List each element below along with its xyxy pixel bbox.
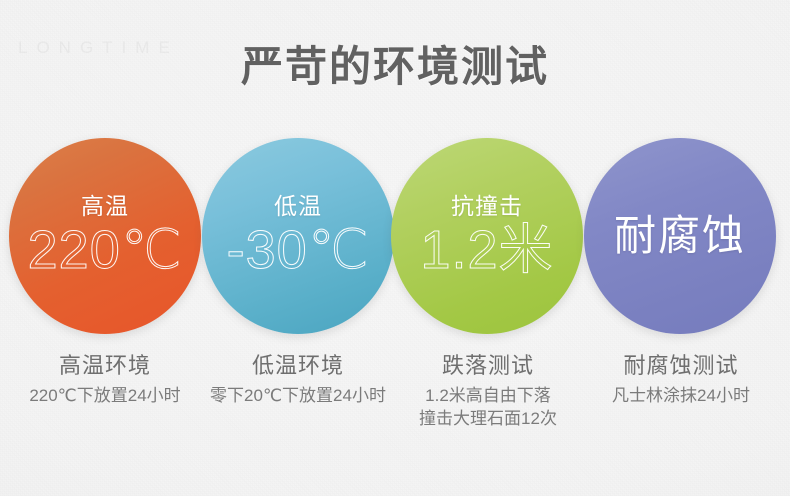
caption-corrosion-resistance: 耐腐蚀测试 凡士林涂抹24小时 [576,352,786,407]
circle-label: 低温 [274,193,322,219]
circle-label: 高温 [81,193,129,219]
test-circle-high-temperature: 高温 220℃ [9,138,201,334]
caption-title: 高温环境 [0,352,210,380]
circle-value: -30℃ [227,221,370,279]
test-circle-impact-resistance: 抗撞击 1.2米 [391,138,583,334]
caption-line-1: 220℃下放置24小时 [29,386,180,405]
caption-line-1: 凡士林涂抹24小时 [612,386,750,405]
caption-subtext: 220℃下放置24小时 [0,384,210,407]
caption-high-temperature: 高温环境 220℃下放置24小时 [0,352,210,407]
caption-title: 耐腐蚀测试 [576,352,786,380]
circle-value: 220℃ [28,221,183,279]
test-circles-row: 高温 220℃ 低温 -30℃ 抗撞击 1.2米 耐腐蚀 [0,138,790,338]
test-circle-low-temperature: 低温 -30℃ [202,138,394,334]
caption-subtext: 零下20℃下放置24小时 [193,384,403,407]
caption-impact-resistance: 跌落测试 1.2米高自由下落 撞击大理石面12次 [383,352,593,430]
caption-subtext: 凡士林涂抹24小时 [576,384,786,407]
test-circle-corrosion-resistance: 耐腐蚀 [584,138,776,334]
circle-label: 抗撞击 [451,193,523,219]
promo-banner: LONGTIME 严苛的环境测试 高温 220℃ 低温 -30℃ 抗撞击 1.2… [0,0,790,496]
circle-value: 1.2米 [420,221,553,279]
caption-line-2: 撞击大理石面12次 [383,407,593,430]
caption-title: 跌落测试 [383,352,593,380]
page-title: 严苛的环境测试 [0,42,790,92]
caption-subtext: 1.2米高自由下落 撞击大理石面12次 [383,384,593,430]
caption-low-temperature: 低温环境 零下20℃下放置24小时 [193,352,403,407]
caption-line-1: 零下20℃下放置24小时 [210,386,386,405]
caption-title: 低温环境 [193,352,403,380]
caption-line-1: 1.2米高自由下落 [425,386,551,405]
circle-label: 耐腐蚀 [614,212,746,260]
test-captions-row: 高温环境 220℃下放置24小时 低温环境 零下20℃下放置24小时 跌落测试 … [0,352,790,462]
